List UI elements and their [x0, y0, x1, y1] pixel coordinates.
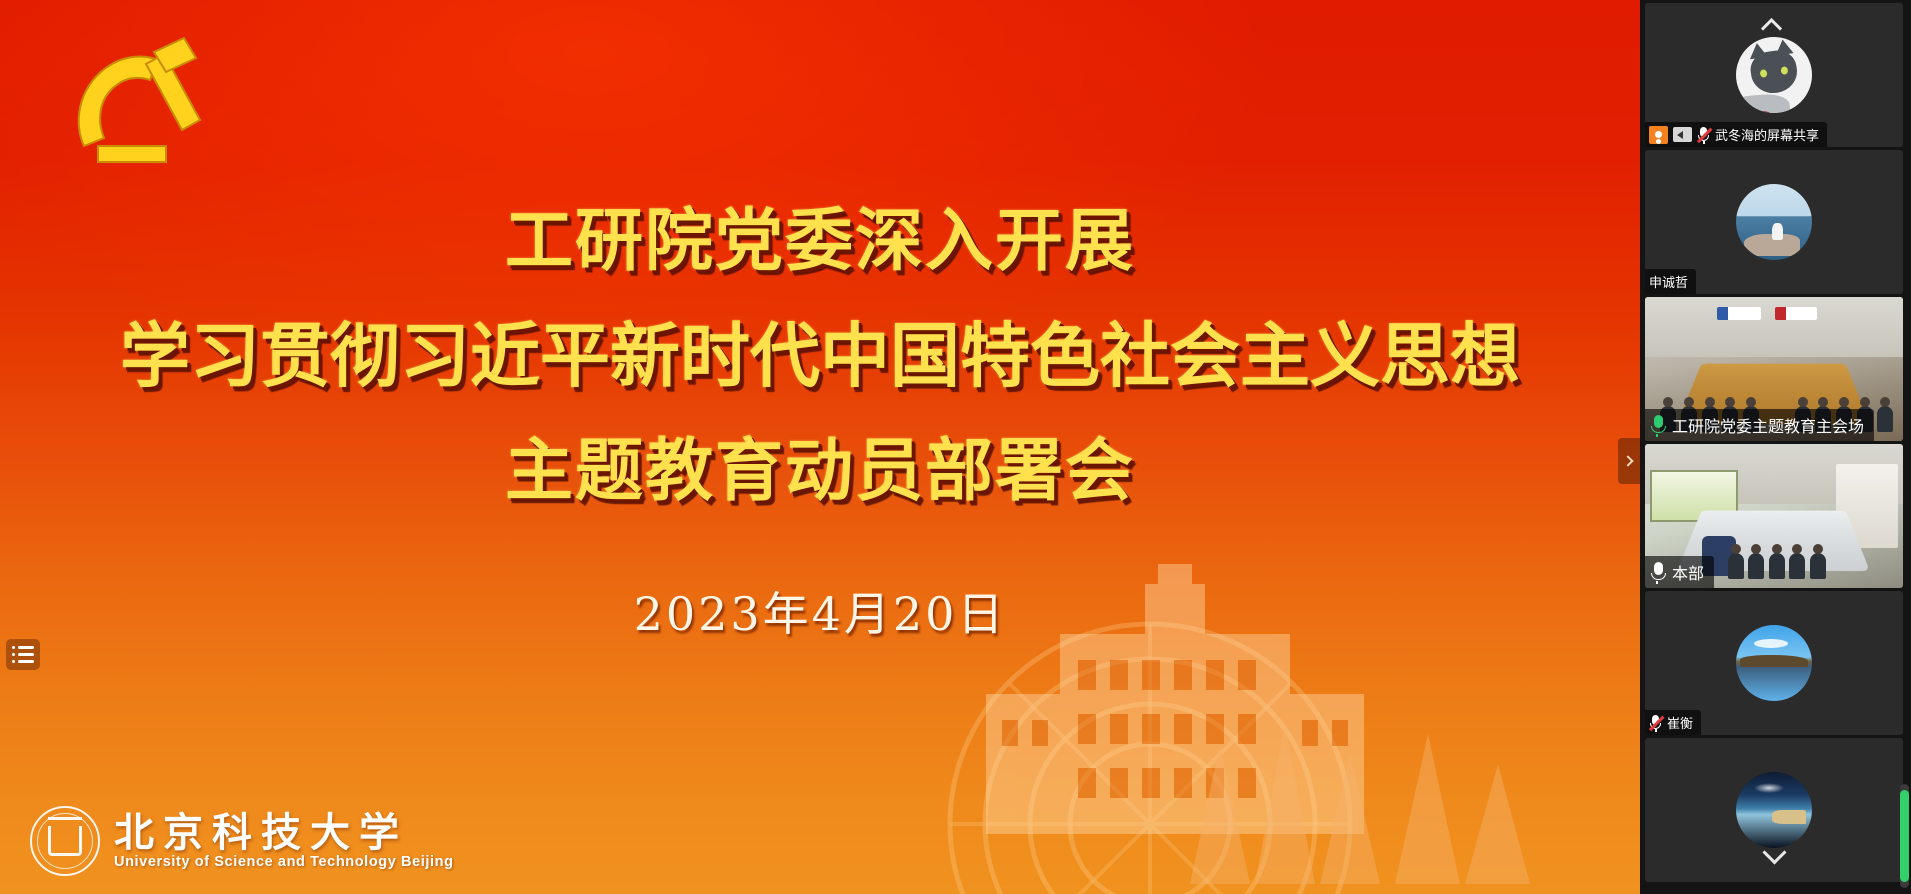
slide-title-line-2: 学习贯彻习近平新时代中国特色社会主义思想: [0, 300, 1640, 401]
night-avatar: [1736, 772, 1812, 848]
mic-muted-icon: [1697, 126, 1710, 144]
cat-avatar: [1736, 37, 1812, 113]
participant-namebar: 申诚哲: [1645, 269, 1696, 294]
participant-tile-cuiheng[interactable]: 崔衡: [1645, 591, 1903, 735]
participant-namebar: 武冬海的屏幕共享: [1645, 122, 1827, 147]
chevron-up-icon: [1761, 17, 1787, 30]
participant-namebar: 崔衡: [1645, 710, 1701, 735]
chevron-right-icon: [1622, 455, 1633, 466]
meeting-screen-share-view: 工研院党委深入开展 学习贯彻习近平新时代中国特色社会主义思想 主题教育动员部署会…: [0, 0, 1911, 894]
slide-title-line-1: 工研院党委深入开展: [0, 185, 1640, 284]
participant-name: 崔衡: [1667, 713, 1693, 732]
participant-filmstrip[interactable]: 武冬海的屏幕共享 申诚哲: [1640, 0, 1911, 894]
shared-screen-content[interactable]: 工研院党委深入开展 学习贯彻习近平新时代中国特色社会主义思想 主题教育动员部署会…: [0, 0, 1640, 894]
list-icon[interactable]: [6, 639, 40, 670]
participant-tile-shenchengzhe[interactable]: 申诚哲: [1645, 150, 1903, 294]
ustb-logo-icon: [1717, 307, 1761, 320]
mic-muted-icon: [1649, 714, 1662, 732]
institute-logo-icon: [1775, 307, 1817, 320]
participant-name: 申诚哲: [1649, 272, 1688, 291]
slide-text-block: 工研院党委深入开展 学习贯彻习近平新时代中国特色社会主义思想 主题教育动员部署会…: [0, 0, 1640, 894]
chevron-down-icon[interactable]: [1761, 844, 1791, 860]
mic-icon: [1650, 561, 1667, 584]
lake-avatar: [1736, 625, 1812, 701]
slide-title-line-3: 主题教育动员部署会: [0, 415, 1640, 514]
filmstrip-scrollbar[interactable]: [1900, 784, 1909, 888]
university-name-en: University of Science and Technology Bei…: [114, 854, 454, 870]
mic-active-icon: [1650, 414, 1667, 437]
participant-name: 本部: [1672, 560, 1704, 584]
slide-date: 2023年4月20日: [0, 578, 1640, 644]
participant-namebar: 工研院党委主题教育主会场: [1645, 409, 1874, 441]
participant-tile-screen-share[interactable]: 武冬海的屏幕共享: [1645, 3, 1903, 147]
participant-name: 工研院党委主题教育主会场: [1672, 413, 1864, 437]
participant-namebar: 本部: [1645, 556, 1714, 588]
scrollbar-thumb[interactable]: [1900, 790, 1909, 882]
participant-tile-benbu[interactable]: 本部: [1645, 444, 1903, 588]
participant-tile-main-venue[interactable]: 工研院党委主题教育主会场: [1645, 297, 1903, 441]
screen-share-icon: [1673, 127, 1692, 142]
university-seal-icon: [30, 806, 100, 876]
sea-avatar: [1736, 184, 1812, 260]
university-name-cn: 北京科技大学: [114, 813, 454, 853]
university-logo: 北京科技大学 University of Science and Technol…: [30, 806, 454, 876]
host-icon: [1649, 126, 1668, 144]
collapse-panel-button[interactable]: [1618, 438, 1640, 484]
participant-name: 武冬海的屏幕共享: [1715, 125, 1819, 144]
